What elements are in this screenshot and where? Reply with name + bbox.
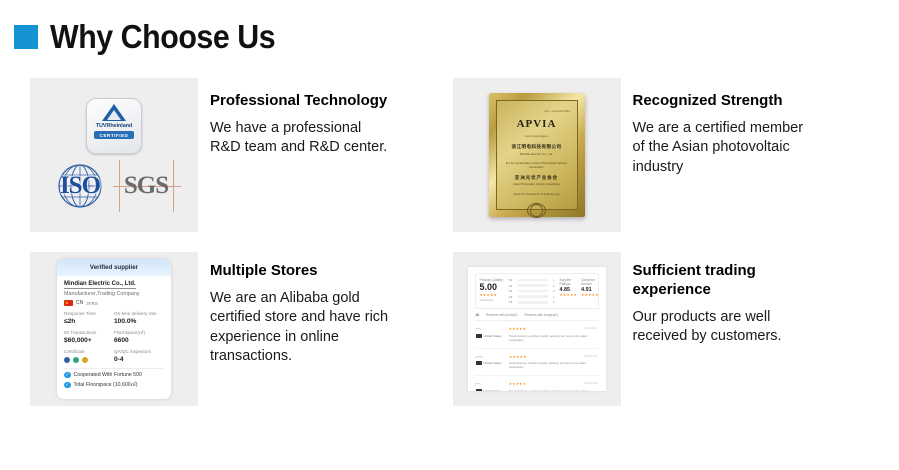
histogram-row: 2★ 0 — [509, 295, 555, 299]
quality-footnote: 1 Review(s) — [480, 299, 504, 302]
review-item: m***a United States 2023-03-24 ★★★★★ Goo… — [475, 349, 599, 376]
certificate-body-en: For its membership in Asian Photovoltaic… — [503, 161, 571, 170]
feature-title: Multiple Stores — [210, 262, 395, 281]
review-date: 2023-05-11 — [584, 327, 597, 330]
feature-card-recognized-strength: No.: Apv2021041 APVIA Acknowledges 浙江明电科… — [453, 78, 876, 232]
country-flag-icon — [476, 389, 482, 391]
feature-body: We have a professional R&D team and R&D … — [210, 119, 390, 158]
review-country-row: United States — [476, 334, 504, 338]
stat-value: ≤2h — [64, 318, 114, 325]
sgs-rule-vertical-left — [119, 160, 120, 212]
feature-title: Recognized Strength — [633, 92, 818, 111]
page-header: Why Choose Us — [14, 20, 295, 53]
certificate-title: APVIA — [517, 118, 557, 130]
review-country: United States — [484, 389, 502, 391]
supplier-business-type: Manufacturer,Trading Company — [64, 291, 164, 297]
certificate-frame: No.: Apv2021041 APVIA Acknowledges 浙江明电科… — [489, 93, 585, 217]
tab-reviews-with-images[interactable]: Reviews with images(0) — [524, 313, 558, 317]
tuv-logo-label: TUVRheinland — [96, 123, 132, 129]
supplier-ratings-group: Supplier Ratings 4.85 ★★★★★ Customer Ser… — [560, 278, 594, 304]
histogram-label: 1★ — [509, 300, 515, 304]
verified-supplier-body: Mindian Electric Co., Ltd. Manufacturer,… — [57, 276, 171, 399]
certification-logo-group: TUVRheinland CERTIFIED — [44, 98, 184, 212]
ratings-summary: Product Quality 5.00 ★★★★★ 1 Review(s) 5… — [475, 273, 599, 309]
histogram-count: 0 — [550, 295, 555, 299]
feature-card-multiple-stores: Verified supplier Mindian Electric Co., … — [30, 252, 453, 406]
review-user: m***a United States — [476, 355, 505, 370]
reviews-panel: Product Quality 5.00 ★★★★★ 1 Review(s) 5… — [468, 267, 606, 391]
tab-all[interactable]: All — [476, 313, 480, 317]
rating-histogram: 5★ 1 4★ 0 3★ — [509, 278, 555, 304]
review-username: j***n — [476, 382, 504, 386]
review-date: 2023-03-24 — [584, 355, 597, 358]
country-flag-icon — [476, 334, 482, 338]
review-text: Timely delivery, excellent quality, pack… — [509, 390, 598, 391]
feature-grid: TUVRheinland CERTIFIED — [30, 78, 875, 426]
supplier-footer-item: ✓ Cooperated With Fortune 500 — [64, 372, 164, 379]
feature-body: We are a certified member of the Asian p… — [633, 119, 813, 178]
certificate-footer: Asian PV Conference & Solar Energy — [513, 192, 559, 196]
histogram-label: 4★ — [509, 284, 515, 288]
check-circle-icon: ✓ — [64, 382, 71, 389]
reviews-tabs[interactable]: All Reviews with photo(0) Reviews with i… — [475, 309, 599, 321]
certificate-icon-2 — [73, 357, 79, 363]
histogram-track — [517, 290, 548, 293]
supplier-rating-label: Supplier Ratings — [560, 278, 578, 286]
sgs-logo-label: SGS — [124, 172, 168, 200]
supplier-stat: QA/QC inspectors 0-4 — [114, 349, 164, 363]
apvia-certificate-image: No.: Apv2021041 APVIA Acknowledges 浙江明电科… — [453, 78, 621, 232]
stat-label: On-time delivery rate — [114, 311, 164, 317]
supplier-rating-stars: ★★★★★ — [560, 294, 578, 298]
feature-copy: Multiple Stores We are an Alibaba gold c… — [198, 252, 453, 406]
verified-supplier-card: Verified supplier Mindian Electric Co., … — [57, 259, 171, 399]
review-user: y***r United States — [476, 327, 504, 342]
histogram-track — [517, 279, 548, 282]
review-content: 2023-05-11 ★★★★★ Timely delivery, excell… — [509, 327, 598, 342]
supplier-rating: Supplier Ratings 4.85 ★★★★★ — [560, 278, 578, 304]
certificate-body-cn-en: Asian Photovoltaic Industry Association — [513, 183, 560, 186]
histogram-track — [517, 295, 548, 298]
review-text: Good delivery, excellent quality, packin… — [509, 362, 598, 370]
review-content: 2023-02-08 ★★★★★ Timely delivery, excell… — [509, 382, 598, 391]
stat-value: $60,000+ — [64, 337, 114, 344]
feature-copy: Professional Technology We have a profes… — [198, 78, 453, 232]
stat-label: 50 Transactions — [64, 330, 114, 336]
review-username: y***r — [476, 327, 504, 331]
feature-body: We are an Alibaba gold certified store a… — [210, 289, 390, 367]
verified-supplier-header: Verified supplier — [57, 259, 171, 276]
histogram-count: 0 — [550, 289, 555, 293]
supplier-stat: Response Time ≤2h — [64, 311, 114, 325]
feature-card-sufficient-trading-experience: Product Quality 5.00 ★★★★★ 1 Review(s) 5… — [453, 252, 876, 406]
histogram-row: 1★ 0 — [509, 300, 555, 304]
histogram-label: 5★ — [509, 278, 515, 282]
certificate-icons — [64, 357, 114, 363]
histogram-track — [517, 301, 548, 304]
stat-value: 6600 — [114, 337, 164, 344]
review-country: United States — [484, 334, 502, 338]
certificate-body-cn: 亚洲光伏产业协会 — [515, 175, 558, 181]
histogram-row: 3★ 0 — [509, 289, 555, 293]
supplier-stat: On-time delivery rate 100.0% — [114, 311, 164, 325]
supplier-years-badge: 3YRS — [86, 301, 97, 306]
supplier-footer-item: ✓ Total Floorspace (10,600㎡) — [64, 381, 164, 388]
tuv-certified-badge: CERTIFIED — [94, 131, 135, 139]
footer-item-label: Total Floorspace (10,600㎡) — [74, 381, 138, 388]
feature-title: Professional Technology — [210, 92, 395, 111]
stat-value: 100.0% — [114, 318, 164, 325]
tuv-triangle-icon — [102, 104, 126, 121]
review-username: m***a — [476, 355, 505, 359]
feature-copy: Recognized Strength We are a certified m… — [621, 78, 876, 232]
reviews-panel-image: Product Quality 5.00 ★★★★★ 1 Review(s) 5… — [453, 252, 621, 406]
feature-row-2: Verified supplier Mindian Electric Co., … — [30, 252, 875, 406]
stat-label: QA/QC inspectors — [114, 349, 164, 355]
certificate-number: No.: Apv2021041 — [544, 109, 570, 113]
certificate-subtitle: Acknowledges — [525, 134, 548, 138]
iso-logo-icon: ISO — [51, 160, 109, 212]
review-country-row: United States — [476, 361, 505, 365]
sgs-rule-vertical-right — [173, 160, 174, 212]
product-quality-score: Product Quality 5.00 ★★★★★ 1 Review(s) — [480, 278, 504, 304]
supplier-stat: FloorSpace(㎡) 6600 — [114, 330, 164, 344]
square-bullet-icon — [14, 25, 38, 49]
review-user: j***n United States — [476, 382, 504, 391]
feature-card-professional-technology: TUVRheinland CERTIFIED — [30, 78, 453, 232]
stat-label: FloorSpace(㎡) — [114, 330, 164, 336]
sgs-logo-icon: SGS — [115, 163, 177, 209]
iso-sgs-row: ISO SGS — [44, 160, 184, 212]
certificate-member-en: Mindian Electric Co., Ltd. — [520, 152, 553, 156]
feature-title: Sufficient trading experience — [633, 262, 818, 300]
supplier-stat: Certificate — [64, 349, 114, 363]
country-flag-icon — [476, 361, 482, 365]
supplier-footer: ✓ Cooperated With Fortune 500 ✓ Total Fl… — [64, 368, 164, 389]
review-item: j***n United States 2023-02-08 ★★★★★ Tim… — [475, 376, 599, 391]
review-country: United States — [484, 361, 502, 365]
official-seal-icon — [527, 203, 546, 218]
tuv-rheinland-logo-icon: TUVRheinland CERTIFIED — [86, 98, 142, 154]
service-rating: Customer Service 4.91 ★★★★★ — [581, 278, 599, 304]
review-text: Timely delivery, excellent quality, pack… — [509, 335, 598, 343]
certification-logos-image: TUVRheinland CERTIFIED — [30, 78, 198, 232]
iso-logo-label: ISO — [60, 172, 100, 200]
histogram-track — [517, 284, 548, 287]
histogram-row: 4★ 0 — [509, 284, 555, 288]
histogram-label: 2★ — [509, 295, 515, 299]
review-item: y***r United States 2023-05-11 ★★★★★ Tim… — [475, 321, 599, 348]
footer-item-label: Cooperated With Fortune 500 — [74, 372, 142, 378]
service-rating-label: Customer Service — [581, 278, 599, 286]
feature-copy: Sufficient trading experience Our produc… — [621, 252, 876, 406]
certificate-face: No.: Apv2021041 APVIA Acknowledges 浙江明电科… — [496, 100, 578, 210]
stat-value: 0-4 — [114, 356, 164, 363]
review-content: 2023-03-24 ★★★★★ Good delivery, excellen… — [509, 355, 598, 370]
feature-row-1: TUVRheinland CERTIFIED — [30, 78, 875, 232]
histogram-count: 0 — [550, 300, 555, 304]
page-title: Why Choose Us — [50, 20, 275, 53]
tab-reviews-with-photo[interactable]: Reviews with photo(0) — [486, 313, 517, 317]
check-circle-icon: ✓ — [64, 372, 71, 379]
stat-label: Certificate — [64, 349, 114, 355]
quality-score: 5.00 — [480, 283, 504, 293]
supplier-country-code: CN — [76, 300, 83, 306]
cn-flag-icon — [64, 300, 73, 306]
histogram-label: 3★ — [509, 289, 515, 293]
feature-body: Our products are well received by custom… — [633, 308, 813, 347]
quality-stars: ★★★★★ — [480, 294, 504, 298]
supplier-origin-row: CN 3YRS — [64, 300, 164, 306]
histogram-count: 0 — [550, 284, 555, 288]
supplier-stats-grid: Response Time ≤2h On-time delivery rate … — [64, 311, 164, 368]
verified-supplier-image: Verified supplier Mindian Electric Co., … — [30, 252, 198, 406]
review-country-row: United States — [476, 389, 504, 391]
service-rating-stars: ★★★★★ — [581, 294, 599, 298]
histogram-row: 5★ 1 — [509, 278, 555, 282]
certificate-icon-3 — [82, 357, 88, 363]
stat-label: Response Time — [64, 311, 114, 317]
histogram-count: 1 — [550, 278, 555, 282]
supplier-company-name: Mindian Electric Co., Ltd. — [64, 281, 136, 289]
certificate-member-cn: 浙江明电科技有限公司 — [512, 144, 562, 150]
certificate-icon-1 — [64, 357, 70, 363]
review-date: 2023-02-08 — [584, 382, 597, 385]
supplier-stat: 50 Transactions $60,000+ — [64, 330, 114, 344]
